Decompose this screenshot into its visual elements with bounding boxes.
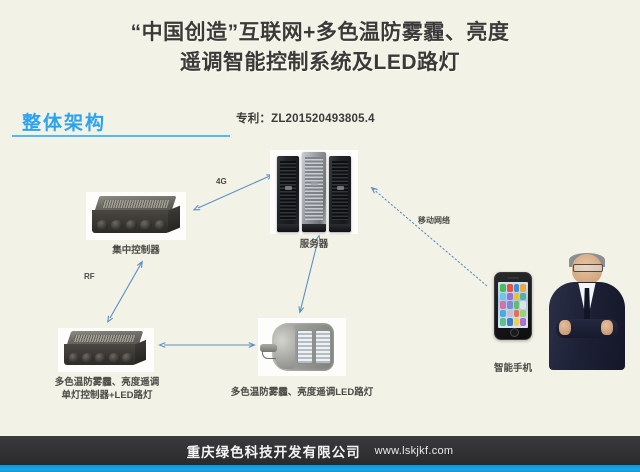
lamp-cable <box>262 351 276 359</box>
edge-label-rf: RF <box>84 272 95 281</box>
phone-speaker <box>507 277 519 279</box>
person-hand-left <box>559 320 571 335</box>
footer-bar: 重庆绿色科技开发有限公司 www.lskjkf.com <box>0 436 640 465</box>
edge-label-4g: 4G <box>216 177 227 186</box>
node-image-centralized-controller <box>86 192 186 240</box>
edge-label-mobile-network: 移动网络 <box>418 215 450 226</box>
node-label-line-2: 单灯控制器+LED路灯 <box>44 389 170 402</box>
connector-rf <box>110 262 142 318</box>
lamp-controller-side-panel <box>135 340 146 365</box>
node-image-user-photo <box>544 254 630 370</box>
footer-website: www.lskjkf.com <box>375 445 454 457</box>
server-tower-left <box>277 156 299 232</box>
footer-company-name: 重庆绿色科技开发有限公司 <box>187 441 361 461</box>
controller-connectors <box>96 218 168 232</box>
lamp-led-modules <box>297 330 331 363</box>
footer-accent-stripe <box>0 465 640 472</box>
node-image-led-street-lamp <box>258 318 346 376</box>
phone-home-button <box>510 328 519 337</box>
controller-vents <box>101 200 169 208</box>
node-image-server <box>270 150 358 234</box>
controller-side-panel <box>168 206 180 233</box>
slide-canvas: “中国创造”互联网+多色温防雾霾、亮度 遥调智能控制系统及LED路灯 整体架构 … <box>0 0 640 472</box>
node-label-centralized-controller: 集中控制器 <box>86 244 186 257</box>
node-image-smartphone <box>494 272 532 340</box>
connector-4g <box>198 175 272 208</box>
node-label-led-street-lamp: 多色温防雾霾、亮度遥调LED路灯 <box>212 386 392 399</box>
node-label-line-1: 多色温防雾霾、亮度遥调 <box>44 376 170 389</box>
server-tower-right <box>329 156 351 232</box>
server-tower-middle <box>302 152 326 232</box>
lamp-controller-connectors <box>67 352 134 365</box>
glasses-icon <box>573 264 603 272</box>
phone-screen <box>498 282 528 328</box>
person-hand-right <box>601 320 613 335</box>
node-image-single-lamp-controller <box>58 328 154 372</box>
lamp-controller-vents <box>73 335 136 342</box>
node-label-smartphone: 智能手机 <box>478 362 548 375</box>
connector-mobile-network <box>372 188 487 286</box>
node-label-server: 服务器 <box>268 238 360 251</box>
node-label-single-lamp-controller: 多色温防雾霾、亮度遥调 单灯控制器+LED路灯 <box>44 376 170 402</box>
